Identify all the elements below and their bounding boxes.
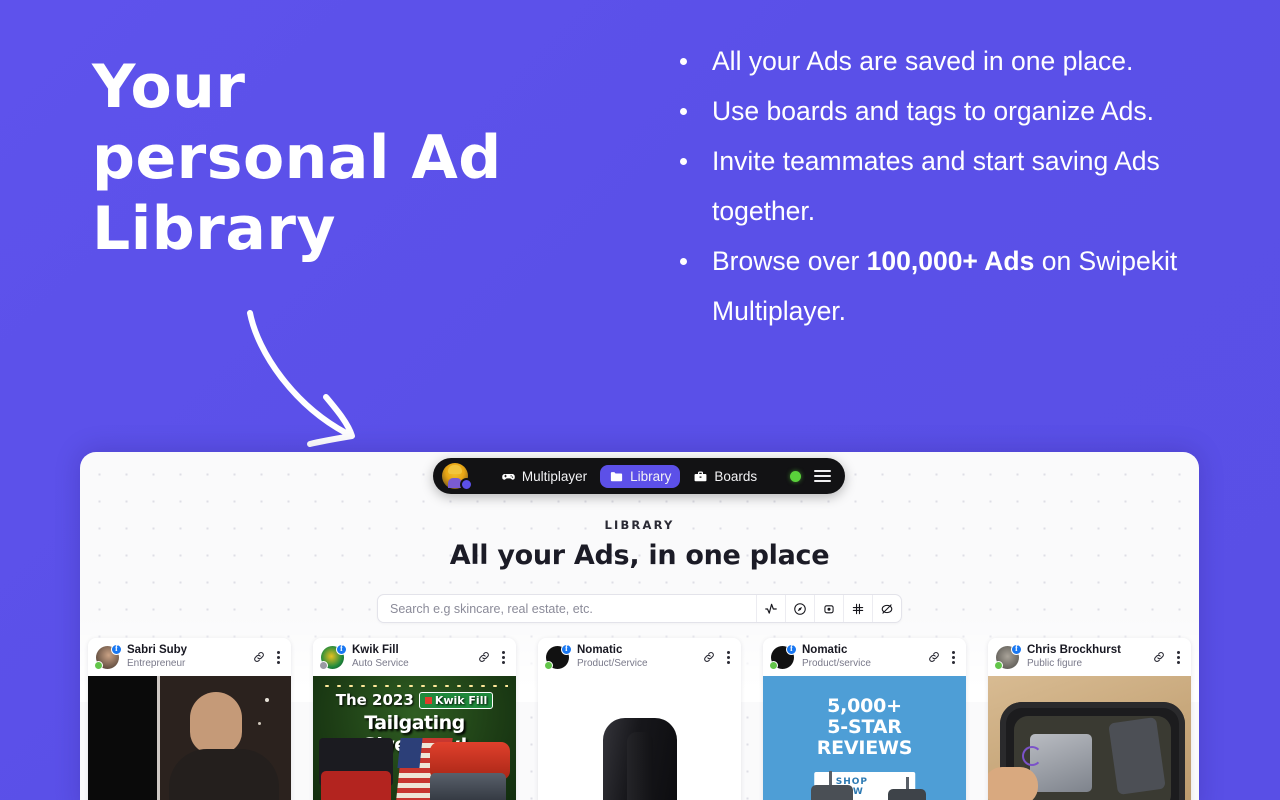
discover-filter-button[interactable] [785,595,814,622]
list-item[interactable]: f Nomatic Product/Service [538,638,741,800]
list-item: Invite teammates and start saving Ads to… [666,136,1206,236]
bullet-text: Invite teammates and start saving Ads to… [712,146,1160,226]
card-header: f Chris Brockhurst Public figure [988,638,1191,676]
tags-filter-button[interactable] [843,595,872,622]
gamepad-icon [501,469,516,484]
headline-line-2: personal Ad [92,123,632,194]
aperture-icon [822,602,836,616]
ad-headline-line-1: 5,000+ [763,696,966,717]
bullet-dot-icon [680,158,687,165]
compass-icon [793,602,807,616]
hide-filter-button[interactable] [872,595,901,622]
search-input[interactable] [378,602,756,616]
nav-item-library[interactable]: Library [600,465,680,488]
search-tool-buttons [756,595,901,622]
facebook-icon: f [111,644,122,655]
media-filter-button[interactable] [814,595,843,622]
advertiser-name: Nomatic [802,644,919,657]
advertiser-name: Kwik Fill [352,644,469,657]
advertiser-category: Product/Service [577,657,694,670]
headline-line-1: Your [92,52,632,123]
avatar-badge-icon [460,478,473,491]
bullet-text: Use boards and tags to organize Ads. [712,96,1154,126]
ad-thumbnail[interactable]: 5,000+ 5-STAR REVIEWS SHOP NOW [763,676,966,800]
kebab-menu-icon[interactable] [725,649,732,666]
folder-icon [609,469,624,484]
list-item[interactable]: f Sabri Suby Entrepreneur [88,638,291,800]
ad-cards-grid: f Sabri Suby Entrepreneur [88,638,1192,800]
card-meta: Nomatic Product/Service [577,644,694,670]
nav-items: Multiplayer Library Boards [468,465,790,488]
list-item[interactable]: f Chris Brockhurst Public figure [988,638,1191,800]
ad-headline-line-1: The 2023 [336,691,414,709]
advertiser-category: Public figure [1027,657,1144,670]
advertiser-name: Sabri Suby [127,644,244,657]
bullet-dot-icon [680,58,687,65]
bullet-text: All your Ads are saved in one place. [712,46,1133,76]
advertiser-category: Product/service [802,657,919,670]
avatar: f [996,646,1019,669]
nav-item-label: Multiplayer [522,469,587,484]
link-icon[interactable] [702,650,716,664]
avatar[interactable] [442,463,468,489]
bullet-dot-icon [680,258,687,265]
ad-headline-line-3: REVIEWS [763,738,966,759]
kebab-menu-icon[interactable] [275,649,282,666]
card-header: f Nomatic Product/service [763,638,966,676]
online-status-dot [790,471,801,482]
logo-text: Kwik Fill [435,694,487,707]
link-icon[interactable] [927,650,941,664]
list-item: All your Ads are saved in one place. [666,36,1206,86]
avatar: f [321,646,344,669]
search-bar [377,594,902,623]
card-header: f Nomatic Product/Service [538,638,741,676]
kebab-menu-icon[interactable] [950,649,957,666]
card-actions [702,649,732,666]
page-headline: Your personal Ad Library [92,52,632,265]
list-item: Browse over 100,000+ Ads on Swipekit Mul… [666,236,1206,336]
kebab-menu-icon[interactable] [1175,649,1182,666]
list-item[interactable]: f Nomatic Product/service [763,638,966,800]
facebook-icon: f [786,644,797,655]
status-badge [319,661,328,670]
advertiser-name: Chris Brockhurst [1027,644,1144,657]
kwik-fill-logo: Kwik Fill [419,692,493,709]
list-item: Use boards and tags to organize Ads. [666,86,1206,136]
card-meta: Kwik Fill Auto Service [352,644,469,670]
briefcase-icon [693,469,708,484]
list-item[interactable]: f Kwik Fill Auto Service [313,638,516,800]
status-badge [94,661,103,670]
curved-arrow-down-right-icon [236,305,396,460]
app-window-mockup: Multiplayer Library Boards [80,452,1199,800]
link-icon[interactable] [1152,650,1166,664]
card-meta: Chris Brockhurst Public figure [1027,644,1144,670]
ad-headline-line-2: 5-STAR [763,717,966,738]
nav-item-label: Library [630,469,671,484]
nav-item-multiplayer[interactable]: Multiplayer [492,465,596,488]
avatar: f [546,646,569,669]
status-badge [769,661,778,670]
headline-line-3: Library [92,194,632,265]
card-actions [252,649,282,666]
eye-off-icon [880,602,894,616]
ad-thumbnail[interactable] [538,676,741,800]
feature-bullet-list: All your Ads are saved in one place. Use… [666,36,1206,336]
ad-thumbnail[interactable]: The 2023Kwik Fill Tailgating Giveaway! [313,676,516,800]
top-navigation-bar: Multiplayer Library Boards [433,458,845,494]
avatar: f [96,646,119,669]
card-meta: Sabri Suby Entrepreneur [127,644,244,670]
card-header: f Sabri Suby Entrepreneur [88,638,291,676]
kebab-menu-icon[interactable] [500,649,507,666]
promo-page: Your personal Ad Library All your Ads ar… [0,0,1280,800]
hamburger-menu-icon[interactable] [814,470,831,482]
ad-thumbnail[interactable] [988,676,1191,800]
ad-thumbnail[interactable] [88,676,291,800]
facebook-icon: f [336,644,347,655]
advertiser-name: Nomatic [577,644,694,657]
avatar-hair [448,465,462,474]
advertiser-category: Entrepreneur [127,657,244,670]
status-badge [994,661,1003,670]
card-actions [477,649,507,666]
bullet-text-bold: 100,000+ Ads [867,246,1035,276]
link-icon[interactable] [477,650,491,664]
nav-item-boards[interactable]: Boards [684,465,766,488]
facebook-icon: f [561,644,572,655]
status-badge [544,661,553,670]
card-actions [1152,649,1182,666]
bullet-dot-icon [680,108,687,115]
card-actions [927,649,957,666]
nav-right-controls [790,470,836,482]
link-icon[interactable] [252,650,266,664]
nav-item-label: Boards [714,469,757,484]
facebook-icon: f [1011,644,1022,655]
avatar: f [771,646,794,669]
page-title: All your Ads, in one place [80,540,1199,571]
activity-icon [764,602,778,616]
card-header: f Kwik Fill Auto Service [313,638,516,676]
page-eyebrow: LIBRARY [80,518,1199,532]
hash-grid-icon [851,602,865,616]
advertiser-category: Auto Service [352,657,469,670]
card-meta: Nomatic Product/service [802,644,919,670]
bullet-text-before: Browse over [712,246,867,276]
activity-filter-button[interactable] [756,595,785,622]
